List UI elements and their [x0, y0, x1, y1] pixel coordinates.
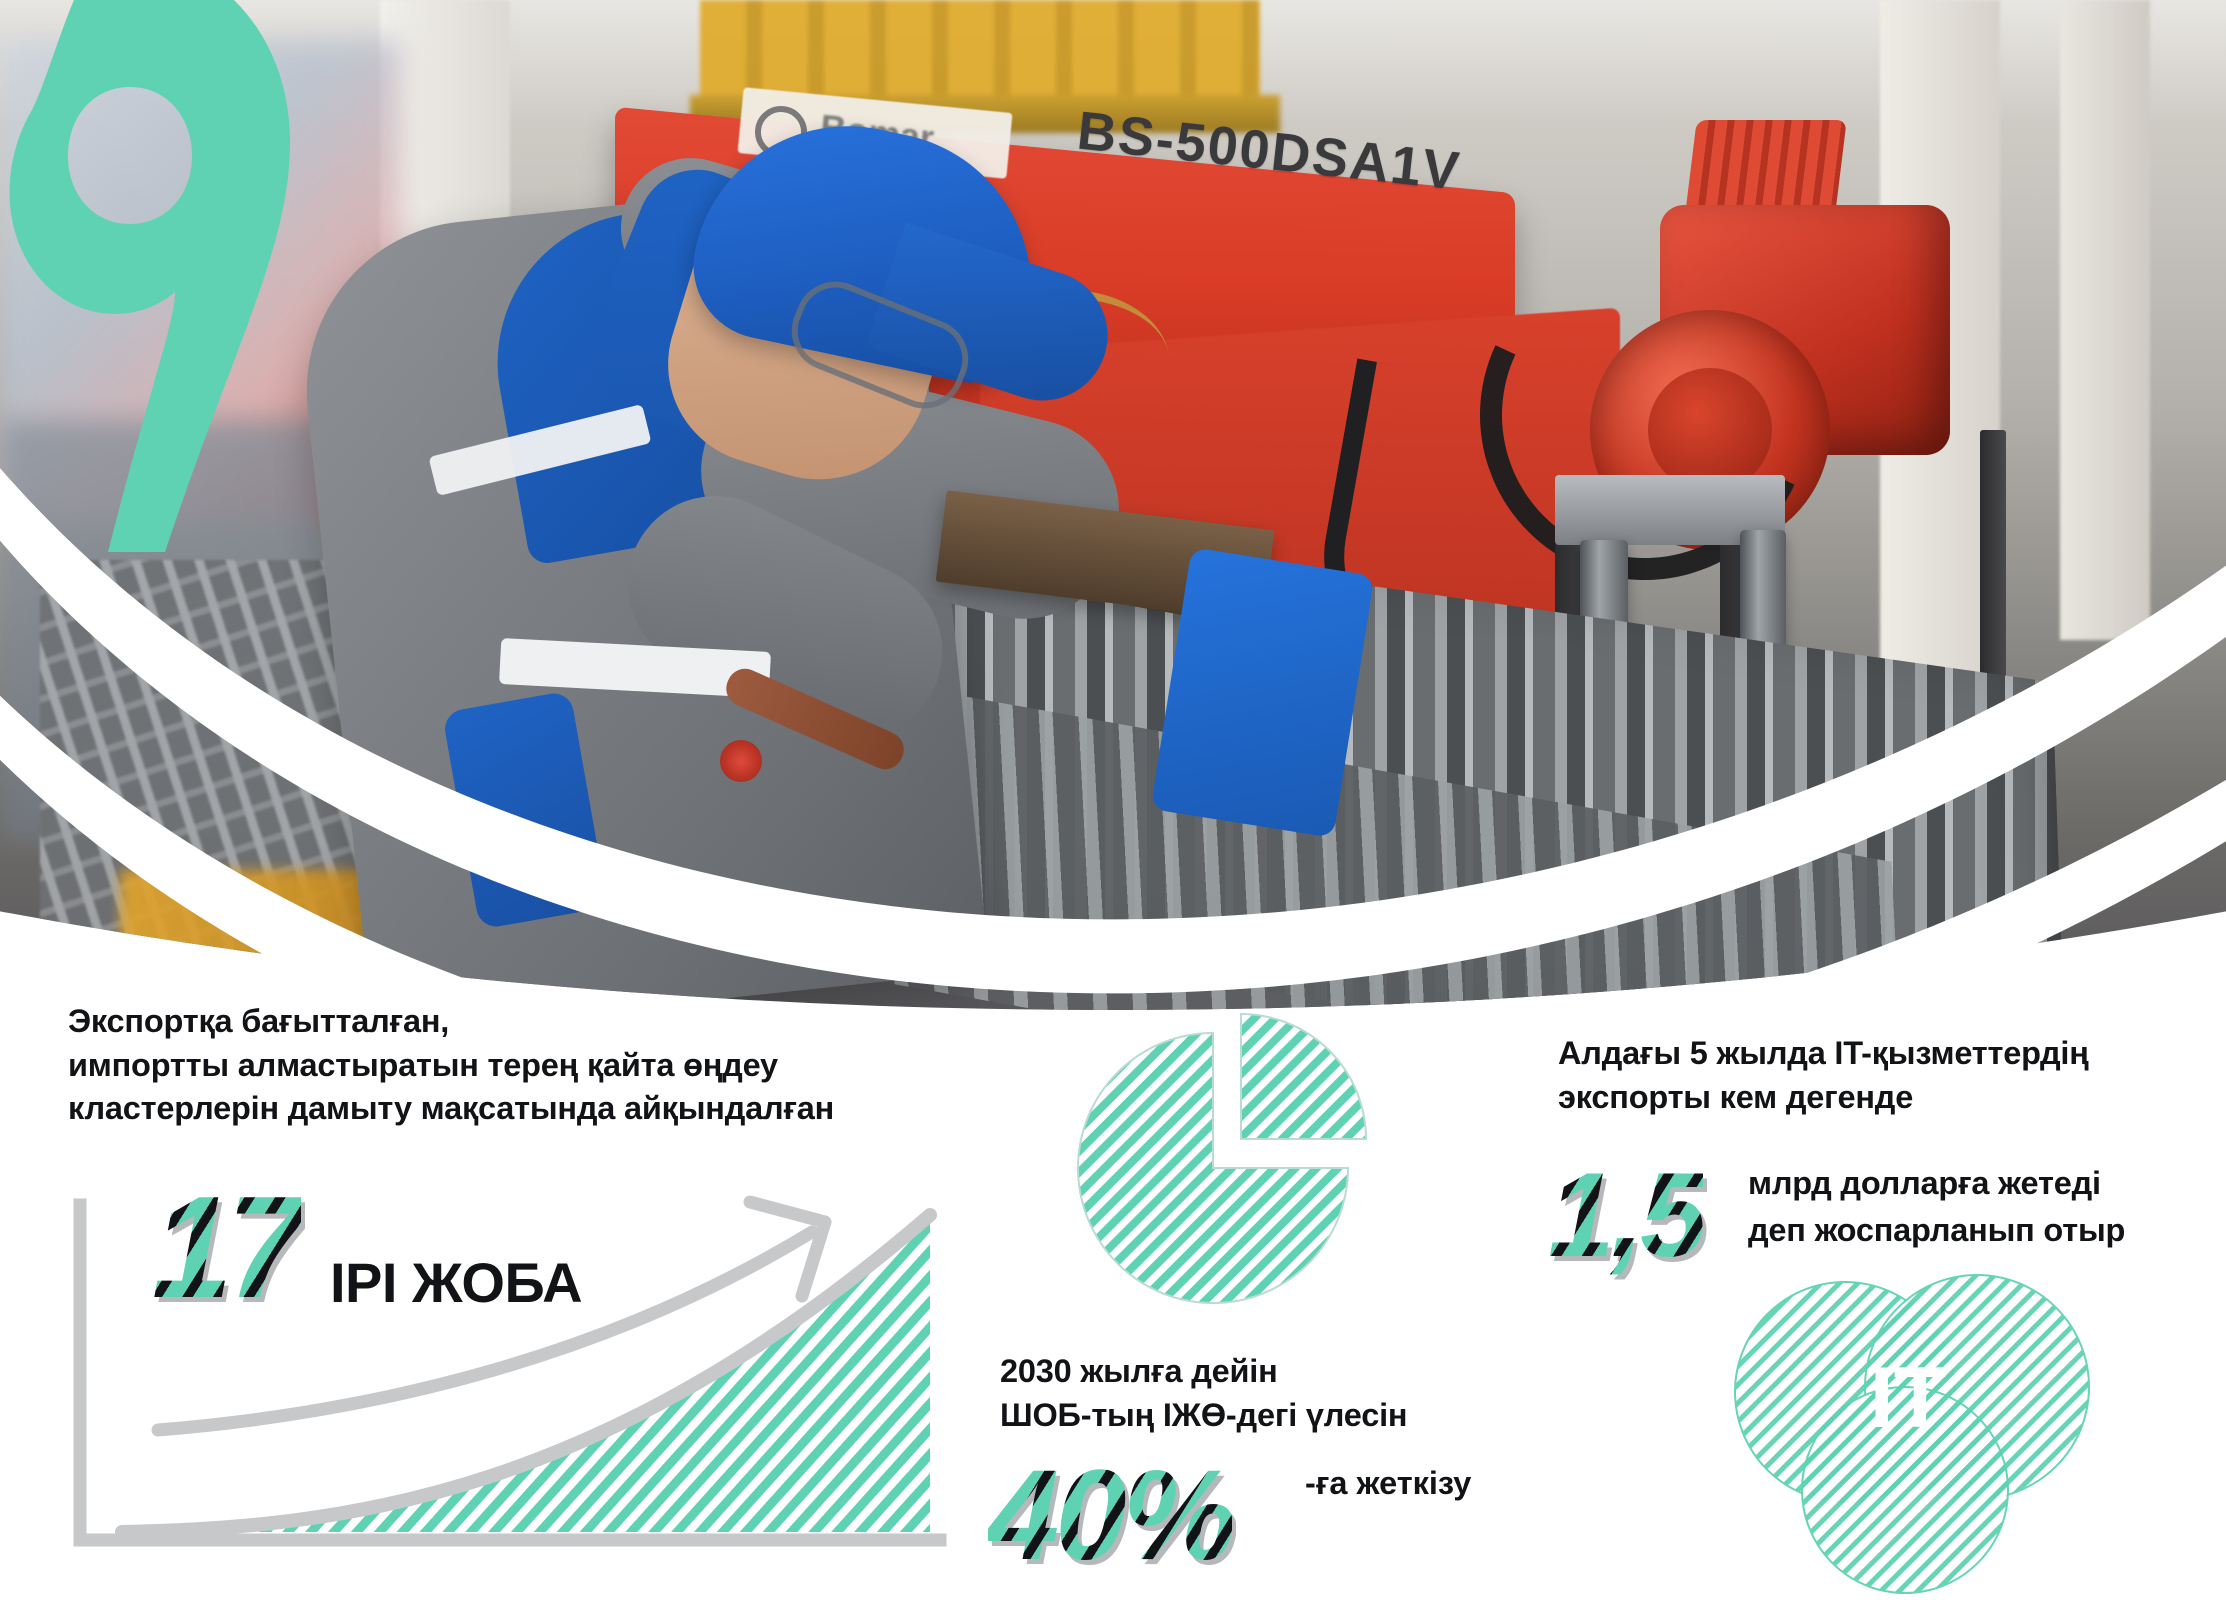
brand-comma-nine-logo: [0, 0, 290, 562]
middle-headline: 2030 жылға дейін ШОБ-тың ІЖӨ-дегі үлесін: [1000, 1350, 1620, 1437]
infographic-canvas: Bomar BS-500DSA1V meta: [0, 0, 2226, 1602]
left-number-label: ІРІ ЖОБА: [330, 1250, 582, 1315]
swoosh-curve-upper: [0, 300, 2226, 993]
right-headline: Алдағы 5 жылда IT-қызметтердің экспорты …: [1558, 1032, 2226, 1119]
left-big-number: 17: [152, 1175, 301, 1320]
white-swoosh-decoration: [0, 0, 2226, 1010]
venn-center-label: IT: [1870, 1350, 1946, 1446]
hero-photo-banner: Bomar BS-500DSA1V meta: [0, 0, 2226, 1010]
logo-shape: [10, 0, 290, 552]
sme-gdp-pie-chart: [1068, 1008, 1388, 1318]
middle-tail-text: -ға жеткізу: [1305, 1465, 1471, 1502]
middle-big-number: 40%: [988, 1452, 1232, 1580]
left-headline: Экспортқа бағытталған, импортты алмастыр…: [68, 1000, 968, 1131]
it-venn-diagram: IT: [1700, 1272, 2120, 1602]
pie-slice-exploded: [1241, 1014, 1366, 1139]
right-big-number: 1,5: [1548, 1155, 1703, 1275]
right-tail-text: млрд долларға жетеді деп жоспарланып оты…: [1748, 1160, 2226, 1254]
